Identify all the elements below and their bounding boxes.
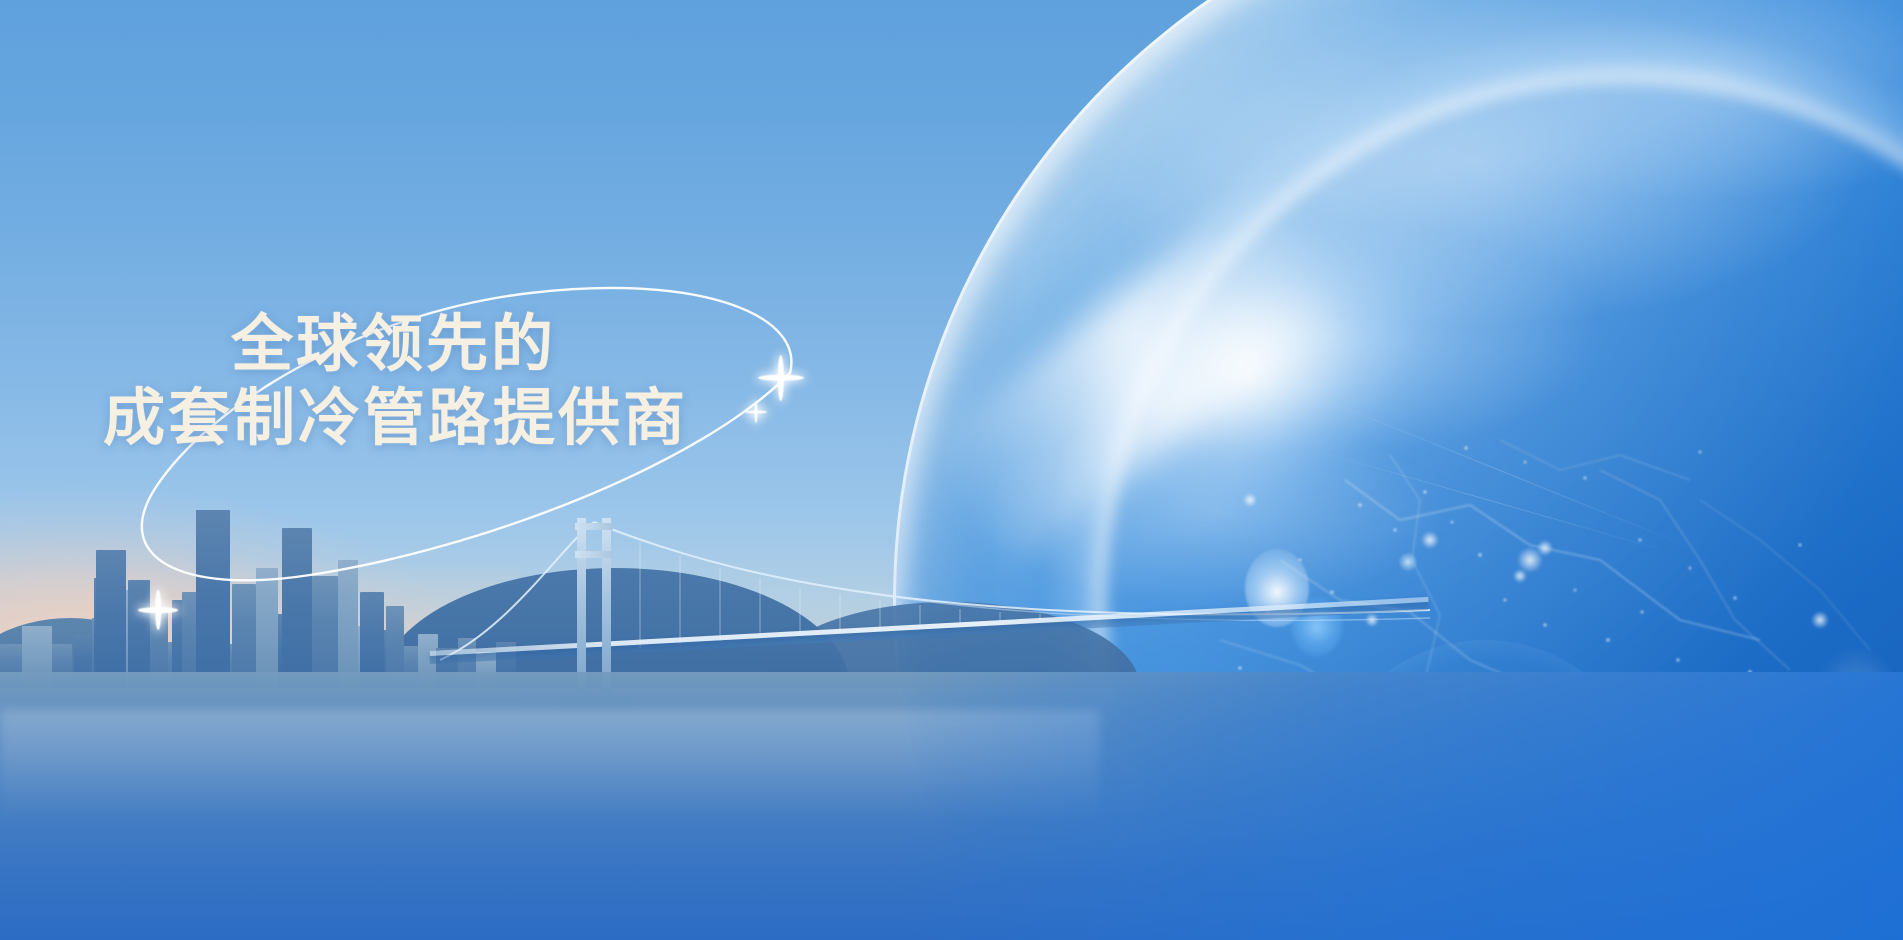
water-globe-blend	[900, 672, 1903, 940]
bridge-tower	[575, 512, 613, 698]
bridge-cable-main	[594, 522, 1430, 614]
bridge-cable-left	[440, 522, 594, 660]
headline-line-2: 成套制冷管路提供商	[103, 382, 863, 456]
page-title: 全球领先的 成套制冷管路提供商	[103, 308, 863, 456]
headline-line-1: 全球领先的	[103, 308, 863, 382]
hero-banner: 全球领先的 成套制冷管路提供商	[0, 0, 1903, 940]
